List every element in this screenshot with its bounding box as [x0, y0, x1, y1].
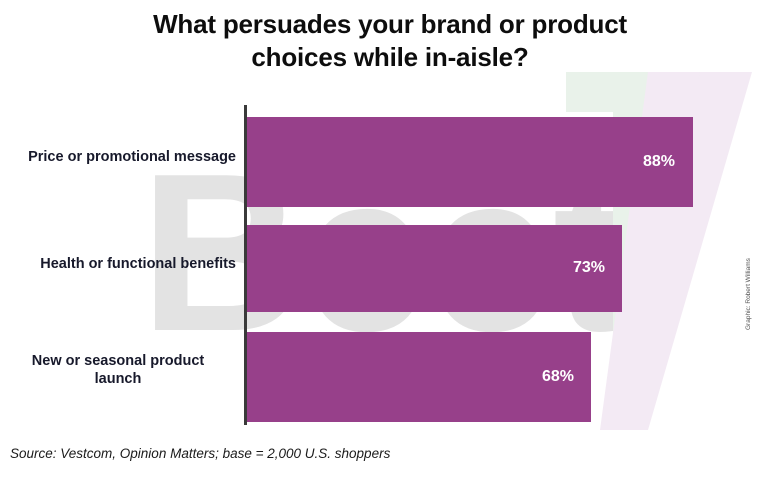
bar-row: Health or functional benefits 73%: [0, 225, 776, 312]
bar-value-health: 73%: [573, 259, 605, 277]
value-axis-line: [244, 105, 247, 425]
bar-value-new-seasonal: 68%: [542, 368, 574, 386]
chart-figure: Beet What persuades your brand or produc…: [0, 0, 776, 481]
bar-health[interactable]: [245, 225, 622, 312]
category-label-health: Health or functional benefits: [0, 255, 236, 273]
category-label-price: Price or promotional message: [0, 148, 236, 166]
bar-row: Price or promotional message 88%: [0, 117, 776, 207]
chart-title: What persuades your brand or product cho…: [60, 8, 720, 75]
source-note: Source: Vestcom, Opinion Matters; base =…: [10, 446, 390, 461]
category-label-new-seasonal: New or seasonal product launch: [0, 352, 236, 388]
bar-row: New or seasonal product launch 68%: [0, 332, 776, 422]
graphic-credit: Graphic: Robert Williams: [745, 258, 752, 330]
bar-new-seasonal[interactable]: [245, 332, 591, 422]
bar-value-price: 88%: [643, 153, 675, 171]
bar-price[interactable]: [245, 117, 693, 207]
